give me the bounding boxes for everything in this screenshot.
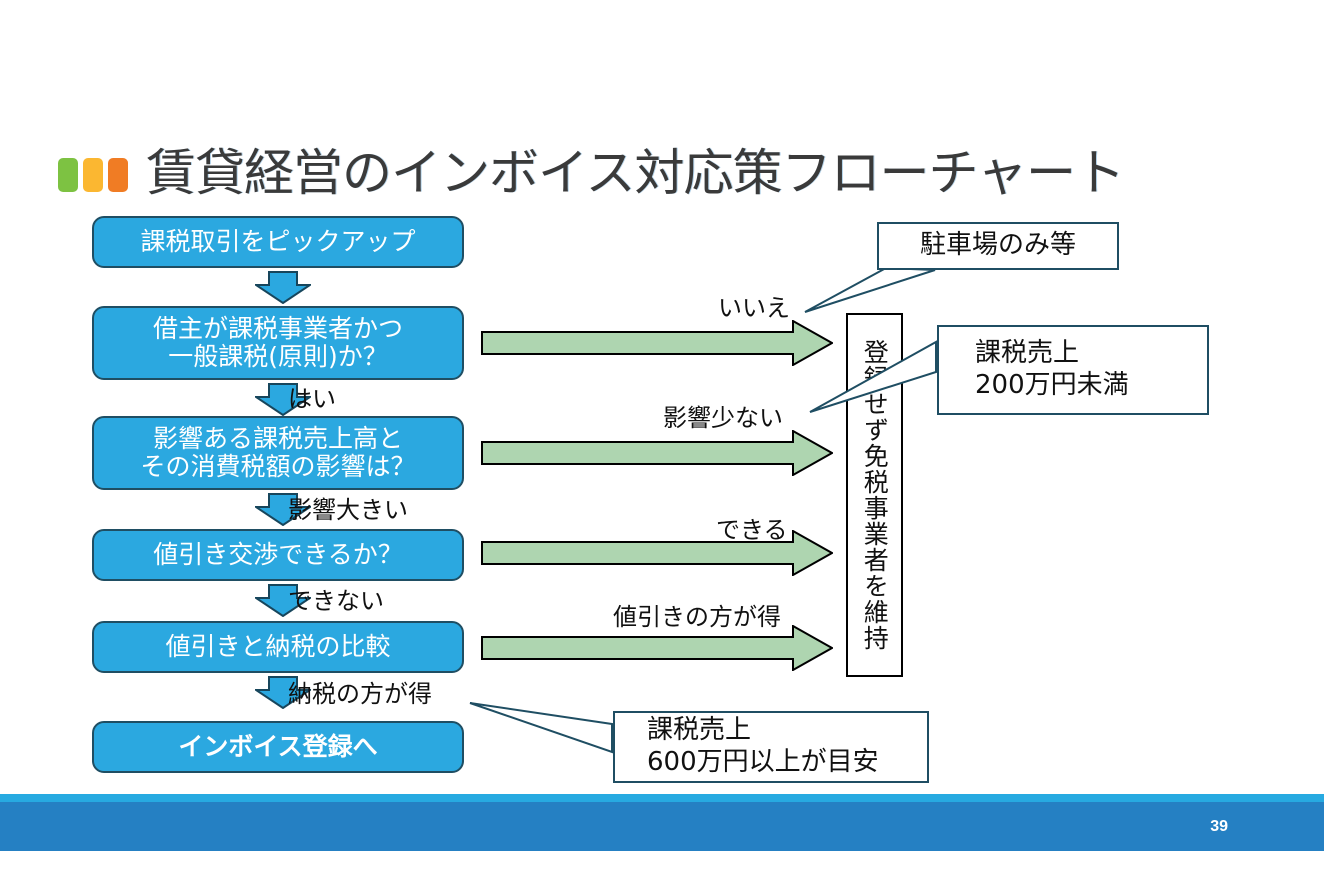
footer-banner [0,802,1324,851]
flow-box-tenant-taxable-line1: 借主が課税事業者かつ [153,314,403,343]
slide-canvas: 賃貸経営のインボイス対応策フローチャート 課税取引をピックアップ 借主が課税事業… [0,0,1324,891]
branch-label-can: できる [716,510,788,545]
footer-accent-strip [0,794,1324,802]
right-arrow-icon-2 [481,430,833,476]
result-box-vertical-label: 登録せず免税事業者を維持 [862,339,888,651]
flow-box-impact-sales-line1: 影響ある課税売上高と [153,424,403,453]
down-arrow-label-cannot: できない [288,581,384,616]
flow-box-invoice-registration-label: インボイス登録へ [178,733,377,762]
page-number: 39 [1210,818,1228,836]
branch-label-small-impact: 影響少ない [663,398,783,433]
flow-box-impact-sales[interactable]: 影響ある課税売上高と その消費税額の影響は？ [92,416,464,490]
callout-parking-only[interactable]: 駐車場のみ等 [877,222,1119,270]
callout-sales-over-600man-line2: 600万円以上が目安 [647,747,927,779]
flow-box-discount-vs-tax-label: 値引きと納税の比較 [165,633,390,662]
slide-title-row: 賃貸経営のインボイス対応策フローチャート [58,143,1124,203]
callout-sales-under-200man[interactable]: 課税売上 200万円未満 [937,325,1209,415]
flow-box-pickup-label: 課税取引をピックアップ [140,228,415,257]
leader-wedge-parking [805,268,935,312]
callout-sales-over-600man-line1: 課税売上 [647,715,927,747]
flow-box-invoice-registration[interactable]: インボイス登録へ [92,721,464,773]
bullet-square-yellow-icon [83,158,103,192]
page-title: 賃貸経営のインボイス対応策フローチャート [146,148,1124,198]
title-bullet-marks [58,158,128,192]
down-arrow-icon-1 [255,271,311,304]
flow-box-tenant-taxable-text: 借主が課税事業者かつ 一般課税(原則)か？ [153,315,403,372]
bullet-square-orange-icon [108,158,128,192]
callout-parking-only-line1: 駐車場のみ等 [920,230,1076,262]
callout-sales-under-200man-line2: 200万円未満 [975,370,1207,402]
flow-box-tenant-taxable[interactable]: 借主が課税事業者かつ 一般課税(原則)か？ [92,306,464,380]
flow-box-pickup[interactable]: 課税取引をピックアップ [92,216,464,268]
branch-label-no: いいえ [718,288,790,323]
flow-box-tenant-taxable-line2: 一般課税(原則)か？ [168,342,388,371]
flow-box-discount-negotiation[interactable]: 値引き交渉できるか？ [92,529,464,581]
callout-sales-over-600man[interactable]: 課税売上 600万円以上が目安 [613,711,929,783]
result-box-stay-exempt[interactable]: 登録せず免税事業者を維持 [846,313,903,677]
leader-wedge-600man [470,703,612,752]
callout-sales-under-200man-line1: 課税売上 [975,338,1207,370]
branch-label-discount-better: 値引きの方が得 [613,597,781,632]
bullet-square-green-icon [58,158,78,192]
flow-box-discount-vs-tax[interactable]: 値引きと納税の比較 [92,621,464,673]
flow-box-impact-sales-line2: その消費税額の影響は？ [140,452,415,481]
down-arrow-label-yes: はい [288,379,336,414]
down-arrow-label-large-impact: 影響大きい [288,490,408,525]
flow-box-discount-negotiation-label: 値引き交渉できるか？ [153,541,403,570]
right-arrow-icon-1 [481,320,833,366]
down-arrow-label-tax-better: 納税の方が得 [288,674,432,709]
flow-box-impact-sales-text: 影響ある課税売上高と その消費税額の影響は？ [140,425,415,482]
